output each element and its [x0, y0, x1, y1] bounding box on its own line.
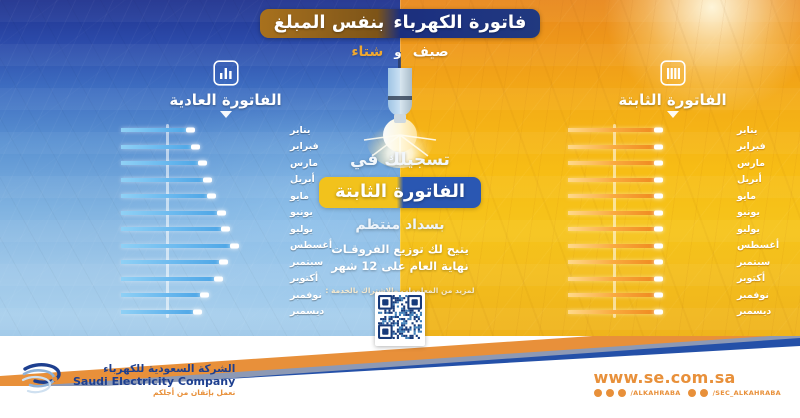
twitter-icon[interactable]	[606, 389, 614, 397]
bar-end-cap	[654, 243, 663, 248]
month-row: مارس	[565, 155, 780, 172]
month-row: يونيو	[565, 205, 780, 222]
bar-end-cap	[193, 309, 202, 314]
bar-end-cap	[654, 260, 663, 265]
month-row: ديسمبر	[565, 304, 780, 321]
month-label: أكتوبر	[732, 273, 780, 284]
bar-end-cap	[654, 161, 663, 166]
consumption-bar	[121, 293, 201, 297]
bar-track	[118, 304, 285, 321]
consumption-bar	[568, 145, 655, 149]
bar-end-cap	[217, 210, 226, 215]
footer: الشركة السعودية للكهرباء Saudi Electrici…	[0, 336, 800, 418]
caret-down-icon	[565, 111, 780, 118]
bar-track	[565, 254, 732, 271]
bar-track	[565, 304, 732, 321]
panel-right-heading: الفاتورة الثابتة	[565, 91, 780, 109]
month-label: يناير	[732, 125, 780, 136]
consumption-bar	[568, 194, 655, 198]
bar-chart-icon	[118, 60, 333, 86]
title-segment-left: بنفس المبلغ	[274, 12, 385, 33]
consumption-bar	[121, 211, 218, 215]
consumption-bar	[121, 260, 220, 264]
panel-fixed-bill: الفاتورة الثابتة ينايرفبرايرمارسأبريلماي…	[565, 60, 780, 320]
consumption-bar	[121, 145, 192, 149]
title-segment-right: فاتورة الكهرباء	[393, 12, 526, 33]
social-handle-2: /SEC_ALKAHRABA	[713, 389, 781, 397]
message-line-3a: يتيح لك توزيع الفروقـات	[280, 241, 520, 258]
bar-end-cap	[654, 210, 663, 215]
bar-track	[565, 238, 732, 255]
bar-track	[118, 139, 285, 156]
bar-end-cap	[654, 276, 663, 281]
bar-track	[118, 172, 285, 189]
bar-end-cap	[207, 194, 216, 199]
month-row: يناير	[565, 122, 780, 139]
consumption-bar	[568, 211, 655, 215]
month-row: سبتمبر	[565, 254, 780, 271]
bar-end-cap	[221, 227, 230, 232]
month-label: يونيو	[732, 207, 780, 218]
month-row: فبراير	[565, 139, 780, 156]
bar-end-cap	[654, 194, 663, 199]
qr-code[interactable]	[375, 292, 425, 346]
message-line-3b: نهاية العام على 12 شهر	[280, 258, 520, 275]
bar-end-cap	[654, 227, 663, 232]
bar-end-cap	[219, 260, 228, 265]
bar-track	[118, 238, 285, 255]
bar-end-cap	[214, 276, 223, 281]
message-line-2: بسداد منتظم	[280, 217, 520, 233]
bar-end-cap	[654, 177, 663, 182]
consumption-bar	[121, 161, 199, 165]
month-row: يوليو	[565, 221, 780, 238]
bar-end-cap	[203, 177, 212, 182]
bar-end-cap	[654, 293, 663, 298]
month-row: أبريل	[565, 172, 780, 189]
youtube-icon[interactable]	[688, 389, 696, 397]
company-name-english: Saudi Electricity Company	[73, 376, 235, 388]
bar-end-cap	[191, 144, 200, 149]
bar-track	[118, 221, 285, 238]
message-highlight-pill: الفاتورة الثابتة	[319, 177, 481, 208]
bar-track	[118, 188, 285, 205]
chart-right-bars: ينايرفبرايرمارسأبريلمايويونيويوليوأغسطسس…	[565, 122, 780, 320]
month-row: يناير	[118, 122, 333, 139]
consumption-bar	[121, 244, 231, 248]
linkedin-icon[interactable]	[700, 389, 708, 397]
consumption-bar	[121, 310, 194, 314]
bar-end-cap	[654, 309, 663, 314]
sec-swoosh-logo	[18, 360, 64, 402]
bar-track	[118, 205, 285, 222]
bar-end-cap	[654, 144, 663, 149]
subtitle-conjunction: و	[394, 45, 401, 59]
qr-code-image	[378, 295, 422, 339]
consumption-bar	[121, 277, 215, 281]
bar-end-cap	[200, 293, 209, 298]
bar-track	[565, 271, 732, 288]
bar-track	[565, 155, 732, 172]
month-label: أبريل	[732, 174, 780, 185]
message-line-3: يتيح لك توزيع الفروقـات نهاية العام على …	[280, 241, 520, 276]
bar-track	[118, 271, 285, 288]
consumption-bar	[121, 194, 208, 198]
bar-track	[118, 155, 285, 172]
subtitle-summer: صيف	[413, 44, 449, 60]
month-row: مايو	[565, 188, 780, 205]
panel-left-heading: الفاتورة العادية	[118, 91, 333, 109]
title-banner: فاتورة الكهرباء بنفس المبلغ	[0, 9, 800, 38]
month-row: أغسطس	[565, 238, 780, 255]
consumption-bar	[568, 128, 655, 132]
month-row: أكتوبر	[565, 271, 780, 288]
month-label: ديسمبر	[732, 306, 780, 317]
month-label: فبراير	[732, 141, 780, 152]
bar-end-cap	[654, 128, 663, 133]
message-highlight-wrap: الفاتورة الثابتة	[280, 177, 520, 208]
consumption-bar	[568, 178, 655, 182]
consumption-bar	[568, 293, 655, 297]
bar-track	[565, 205, 732, 222]
consumption-bar	[568, 161, 655, 165]
bar-track	[565, 287, 732, 304]
center-message: تسجيلك في الفاتورة الثابتة بسداد منتظم ي…	[280, 150, 520, 295]
bar-end-cap	[230, 243, 239, 248]
consumption-bar	[568, 260, 655, 264]
website-url[interactable]: www.se.com.sa	[594, 370, 785, 386]
message-line-1: تسجيلك في	[280, 150, 520, 170]
month-label: يناير	[285, 125, 333, 136]
month-row: ديسمبر	[118, 304, 333, 321]
bar-track	[565, 139, 732, 156]
consumption-bar	[568, 277, 655, 281]
bar-end-cap	[198, 161, 207, 166]
social-row: /ALKAHRABA /SEC_ALKAHRABA	[594, 389, 785, 397]
facebook-icon[interactable]	[594, 389, 602, 397]
consumption-bar	[121, 178, 204, 182]
month-label: أغسطس	[732, 240, 780, 251]
company-logo: الشركة السعودية للكهرباء Saudi Electrici…	[18, 360, 235, 402]
caret-down-icon	[118, 111, 333, 118]
company-slogan: نعمل بإتقان من أجلكم	[73, 389, 235, 397]
month-label: مايو	[732, 191, 780, 202]
month-label: نوفمبر	[732, 290, 780, 301]
social-handle-1: /ALKAHRABA	[631, 389, 681, 397]
bar-track	[118, 287, 285, 304]
month-label: ديسمبر	[285, 306, 333, 317]
website-block: www.se.com.sa /ALKAHRABA /SEC_ALKAHRABA	[594, 370, 785, 397]
consumption-bar	[121, 128, 187, 132]
consumption-bar	[568, 244, 655, 248]
bar-track	[565, 221, 732, 238]
consumption-bar	[568, 227, 655, 231]
month-label: سبتمبر	[732, 257, 780, 268]
equal-bars-icon	[565, 60, 780, 86]
month-label: يوليو	[732, 224, 780, 235]
subtitle-winter: شتاء	[351, 44, 383, 60]
consumption-bar	[568, 310, 655, 314]
poster-canvas: فاتورة الكهرباء بنفس المبلغ صيف و شتاء	[0, 0, 800, 418]
bar-track	[565, 172, 732, 189]
bar-end-cap	[186, 128, 195, 133]
subtitle-row: صيف و شتاء	[0, 44, 800, 60]
company-logo-text: الشركة السعودية للكهرباء Saudi Electrici…	[73, 364, 235, 397]
month-label: مارس	[732, 158, 780, 169]
bar-track	[118, 122, 285, 139]
title-pill: فاتورة الكهرباء بنفس المبلغ	[260, 9, 541, 38]
consumption-bar	[121, 227, 222, 231]
month-row: نوفمبر	[565, 287, 780, 304]
instagram-icon[interactable]	[618, 389, 626, 397]
bar-track	[565, 122, 732, 139]
bar-track	[565, 188, 732, 205]
bar-track	[118, 254, 285, 271]
